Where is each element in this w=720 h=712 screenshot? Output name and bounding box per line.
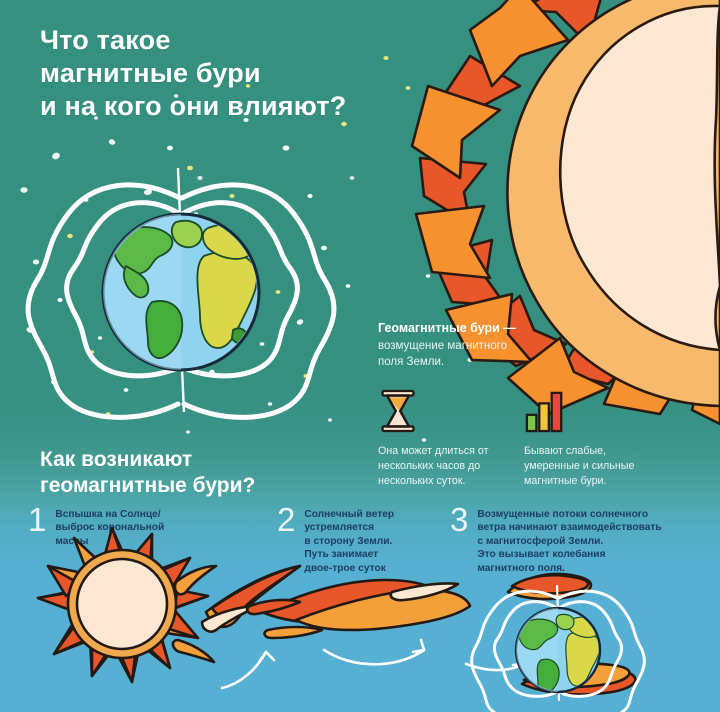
earth-magnetosphere-illustration <box>472 574 645 712</box>
solar-wind-streak-illustration <box>247 580 470 638</box>
infographic-poster: Что такое магнитные бури и на кого они в… <box>0 0 720 712</box>
bottom-illustrations <box>0 0 720 712</box>
